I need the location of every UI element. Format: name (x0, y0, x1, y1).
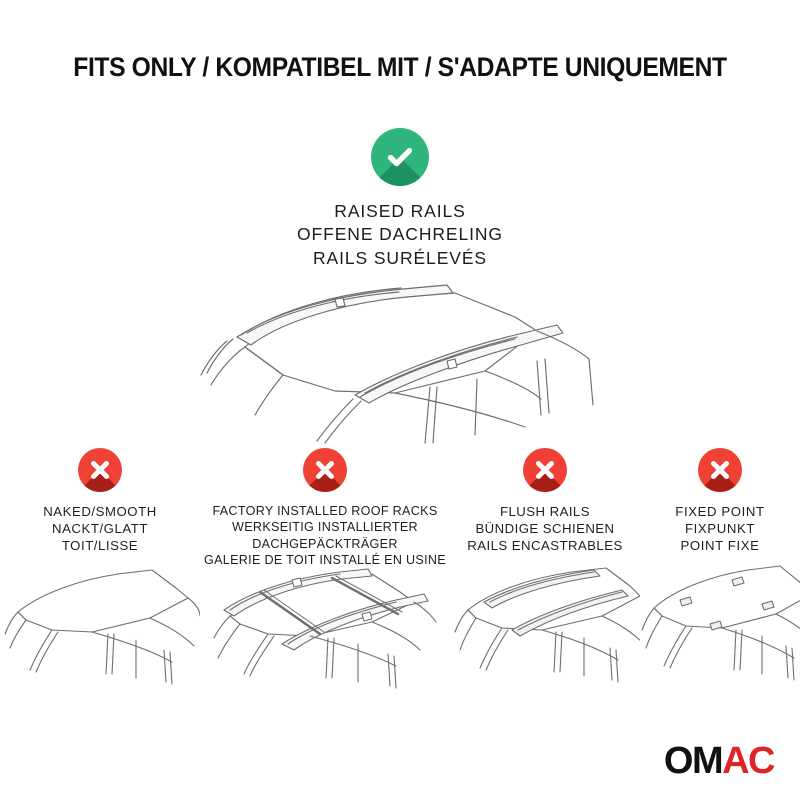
x-circle-icon (78, 448, 122, 492)
incompatible-label-line: FLUSH RAILS (467, 503, 622, 520)
incompatible-label-line: RAILS ENCASTRABLES (467, 537, 622, 554)
omac-logo: OMAC (664, 742, 774, 780)
check-circle-icon (371, 128, 429, 186)
incompatible-item-factory-racks: FACTORY INSTALLED ROOF RACKS WERKSEITIG … (200, 448, 450, 568)
x-circle-icon (698, 448, 742, 492)
x-glyph (523, 448, 567, 492)
incompatible-label: FLUSH RAILS BÜNDIGE SCHIENEN RAILS ENCAS… (467, 503, 622, 554)
compatible-label-line: RAISED RAILS (0, 200, 800, 223)
compatible-section: RAISED RAILS OFFENE DACHRELING RAILS SUR… (0, 128, 800, 270)
incompatible-item-naked-smooth: NAKED/SMOOTH NACKT/GLATT TOIT/LISSE (0, 448, 200, 554)
incompatible-label-line: FACTORY INSTALLED ROOF RACKS (204, 503, 446, 519)
x-glyph (78, 448, 122, 492)
incompatible-label: NAKED/SMOOTH NACKT/GLATT TOIT/LISSE (43, 503, 157, 554)
compatible-label-line: RAILS SURÉLEVÉS (0, 247, 800, 270)
incompatible-item-flush-rails: FLUSH RAILS BÜNDIGE SCHIENEN RAILS ENCAS… (450, 448, 640, 554)
incompatible-label-line: WERKSEITIG INSTALLIERTER (204, 519, 446, 535)
incompatible-label-line: NAKED/SMOOTH (43, 503, 157, 520)
car-roof-naked-smooth-illustration (0, 558, 200, 708)
incompatible-label: FIXED POINT FIXPUNKT POINT FIXE (675, 503, 764, 554)
logo-text-dark: OM (664, 740, 722, 782)
incompatible-item-fixed-point: FIXED POINT FIXPUNKT POINT FIXE (640, 448, 800, 554)
incompatible-sections: NAKED/SMOOTH NACKT/GLATT TOIT/LISSE FACT… (0, 448, 800, 568)
x-glyph (698, 448, 742, 492)
incompatible-label-line: TOIT/LISSE (43, 537, 157, 554)
car-roof-fixed-point-illustration (640, 558, 800, 708)
car-roof-flush-rails-illustration (450, 558, 640, 708)
fitment-infographic: FITS ONLY / KOMPATIBEL MIT / S'ADAPTE UN… (0, 0, 800, 800)
compatible-label: RAISED RAILS OFFENE DACHRELING RAILS SUR… (0, 200, 800, 270)
logo-text-red: AC (722, 740, 774, 782)
incompatible-illustrations (0, 558, 800, 708)
incompatible-label-line: FIXPUNKT (675, 520, 764, 537)
page-title: FITS ONLY / KOMPATIBEL MIT / S'ADAPTE UN… (28, 52, 772, 83)
x-glyph (303, 448, 347, 492)
car-roof-factory-racks-illustration (200, 558, 450, 708)
x-circle-icon (303, 448, 347, 492)
incompatible-label-line: NACKT/GLATT (43, 520, 157, 537)
check-glyph (371, 128, 429, 186)
x-circle-icon (523, 448, 567, 492)
incompatible-label-line: BÜNDIGE SCHIENEN (467, 520, 622, 537)
car-roof-raised-rails-illustration (185, 275, 625, 455)
incompatible-label-line: DACHGEPÄCKTRÄGER (204, 536, 446, 552)
incompatible-label-line: FIXED POINT (675, 503, 764, 520)
compatible-label-line: OFFENE DACHRELING (0, 223, 800, 246)
incompatible-label-line: POINT FIXE (675, 537, 764, 554)
